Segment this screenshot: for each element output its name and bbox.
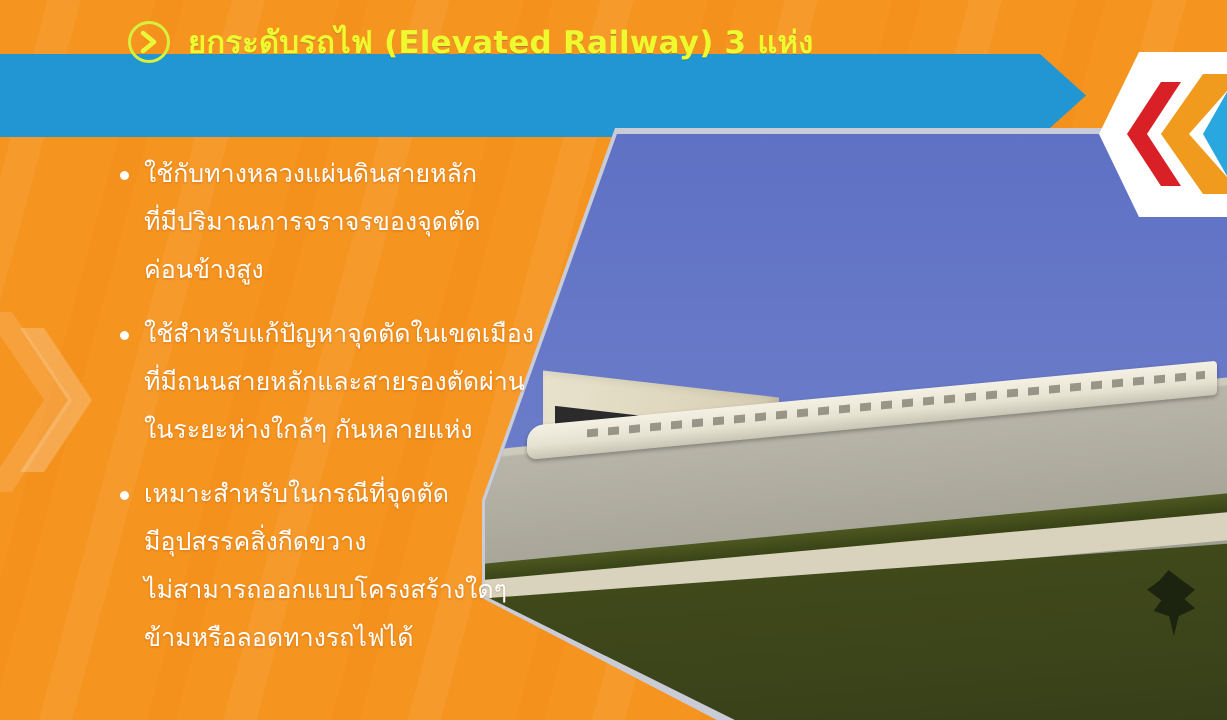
bullet-line: ไม่สามารถออกแบบโครงสร้างใดๆ	[118, 566, 538, 614]
bullet-list: ใช้กับทางหลวงแผ่นดินสายหลัก ที่มีปริมาณก…	[118, 150, 538, 662]
nested-chevron-left-badge	[1099, 52, 1227, 217]
list-item: เหมาะสำหรับในกรณีที่จุดตัด มีอุปสรรคสิ่ง…	[118, 470, 538, 662]
list-item: ใช้กับทางหลวงแผ่นดินสายหลัก ที่มีปริมาณก…	[118, 150, 538, 294]
bullet-line: ที่มีปริมาณการจราจรของจุดตัด	[118, 198, 538, 246]
header-content: ยกระดับรถไฟ (Elevated Railway) 3 แห่ง	[0, 0, 813, 83]
bullet-line: ในระยะห่างใกล้ๆ กันหลายแห่ง	[118, 406, 538, 454]
bullet-line: ใช้สำหรับแก้ปัญหาจุดตัดในเขตเมือง	[118, 310, 538, 358]
bullet-line: เหมาะสำหรับในกรณีที่จุดตัด	[118, 470, 538, 518]
circled-chevron-right-icon	[128, 21, 170, 63]
bullet-line: ข้ามหรือลอดทางรถไฟได้	[118, 614, 538, 662]
list-item: ใช้สำหรับแก้ปัญหาจุดตัดในเขตเมือง ที่มีถ…	[118, 310, 538, 454]
illustration-image	[447, 134, 1227, 720]
double-chevron-right-watermark	[0, 300, 112, 505]
bullet-line: มีอุปสรรคสิ่งกีดขวาง	[118, 518, 538, 566]
page-title: ยกระดับรถไฟ (Elevated Railway) 3 แห่ง	[188, 17, 813, 67]
bullet-line: ใช้กับทางหลวงแผ่นดินสายหลัก	[118, 150, 538, 198]
bullet-line: ที่มีถนนสายหลักและสายรองตัดผ่าน	[118, 358, 538, 406]
slide-stage: ยกระดับรถไฟ (Elevated Railway) 3 แห่ง ใช…	[0, 0, 1227, 720]
bullet-line: ค่อนข้างสูง	[118, 246, 538, 294]
